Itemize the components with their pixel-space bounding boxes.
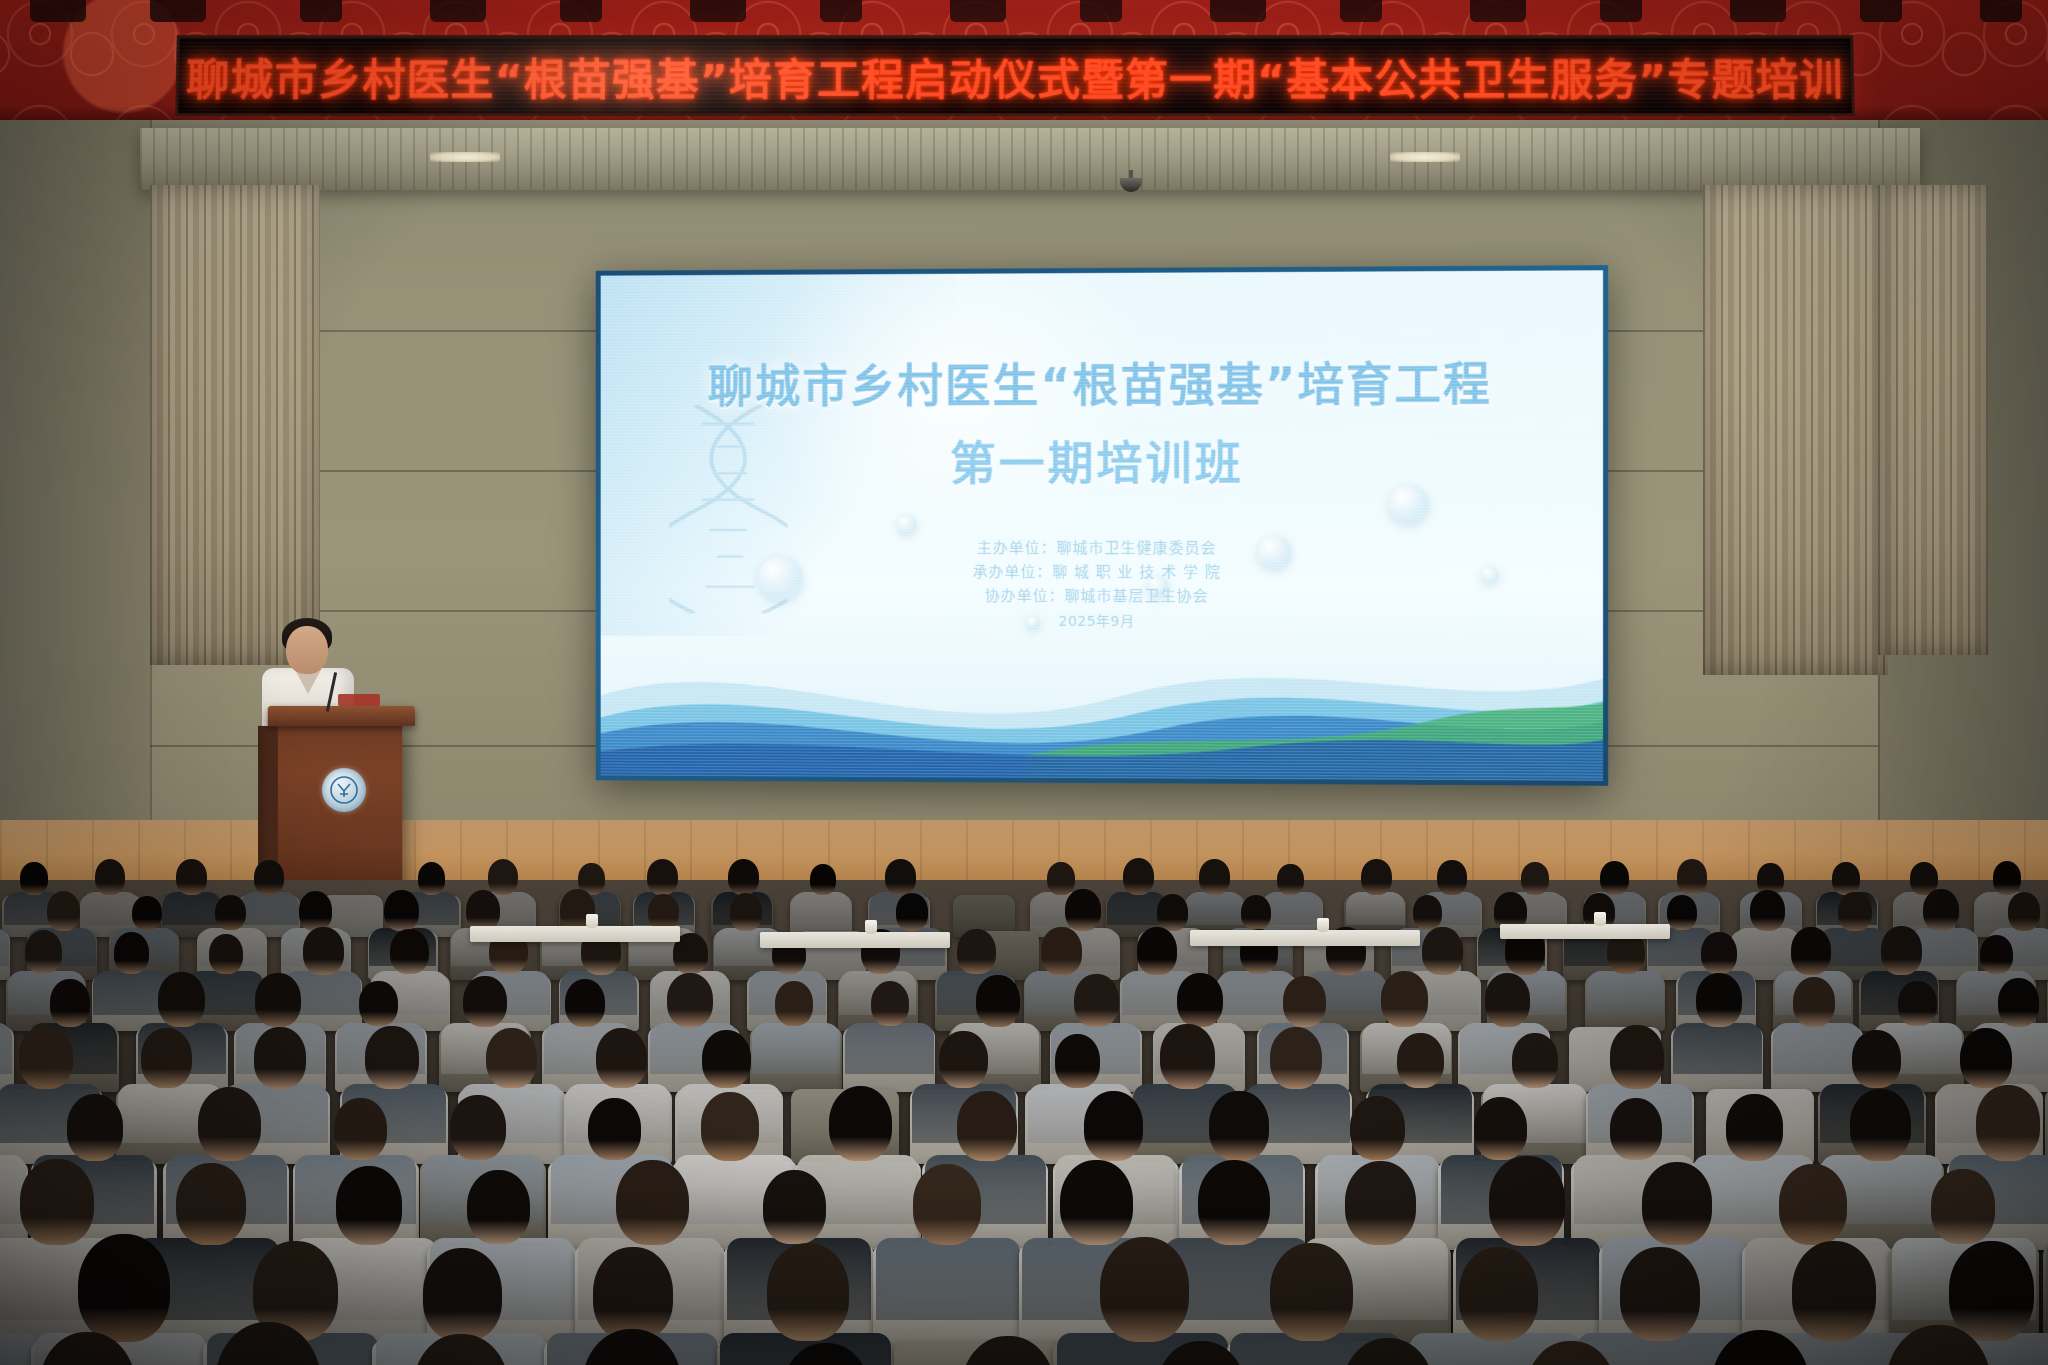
ceiling-block xyxy=(30,0,86,22)
audience-member-head xyxy=(1512,1033,1558,1088)
audience-member-head xyxy=(254,860,284,895)
water-cup xyxy=(1317,918,1329,932)
audience-member-head xyxy=(593,1247,673,1341)
front-table xyxy=(470,926,680,942)
audience-member-head xyxy=(1980,935,2013,974)
projection-screen-frame: 聊城市乡村医生“根苗强基”培育工程 第一期培训班 主办单位：聊城市卫生健康委员会… xyxy=(596,265,1608,786)
audience-member-head xyxy=(1489,1156,1565,1246)
audience-member-body xyxy=(1262,892,1322,924)
audience-member-head xyxy=(1270,1027,1323,1089)
audience-member-head xyxy=(1381,971,1428,1027)
audience-member-head xyxy=(1600,861,1629,895)
audience-member-head xyxy=(596,1028,647,1088)
audience-member-head xyxy=(215,895,245,931)
audience-member-body xyxy=(845,1023,933,1074)
audience-member-head xyxy=(1199,859,1230,895)
ceiling-soffit-blocks xyxy=(0,0,2048,22)
audience-member-head xyxy=(1838,892,1871,931)
audience-member-head xyxy=(1852,1030,1901,1088)
audience-member-head xyxy=(19,1025,73,1088)
audience-member-head xyxy=(303,927,343,974)
audience-member-head xyxy=(1667,895,1697,930)
audience-member-head xyxy=(1074,974,1119,1027)
audience-member-head xyxy=(20,862,48,895)
audience-member-head xyxy=(1198,1160,1270,1245)
audience-member-head xyxy=(1610,1025,1664,1088)
audience-member-head xyxy=(359,981,397,1026)
audience-member-head xyxy=(486,1028,537,1088)
audience-member-head xyxy=(1055,1034,1101,1088)
ceiling-block xyxy=(1470,0,1526,22)
audience-member-head xyxy=(390,929,429,974)
ceiling-block xyxy=(1980,0,2022,22)
audience-member-head xyxy=(1345,1161,1416,1245)
front-table xyxy=(760,932,950,948)
ceiling-light xyxy=(1390,152,1460,162)
ceiling-block xyxy=(1210,0,1266,22)
audience-member-head xyxy=(1160,1024,1215,1089)
audience-member-head xyxy=(50,979,90,1026)
ceiling-block xyxy=(300,0,342,22)
audience-member-head xyxy=(158,972,205,1027)
audience-member-head xyxy=(728,859,759,895)
audience-member-head xyxy=(701,1092,759,1161)
audience-member-head xyxy=(1898,981,1936,1026)
audience-member-body xyxy=(791,892,851,924)
audience-member-head xyxy=(565,979,605,1027)
audience-member-head xyxy=(1047,862,1075,895)
audience-member-head xyxy=(25,930,63,974)
audience-member-head xyxy=(1779,1164,1847,1245)
water-cup xyxy=(586,914,598,928)
audience-member-head xyxy=(78,1234,170,1342)
ceiling-block xyxy=(1600,0,1642,22)
audience-area: 10-0610-02 xyxy=(0,880,2048,1365)
audience-member-head xyxy=(114,932,150,974)
audience-member-head xyxy=(957,929,996,975)
audience-member-head xyxy=(336,1166,402,1244)
water-cup xyxy=(865,920,877,934)
institution-emblem xyxy=(322,768,366,812)
audience-member-head xyxy=(423,1248,501,1340)
ceiling-block xyxy=(1730,0,1786,22)
audience-member-head xyxy=(67,1094,124,1161)
audience-member-head xyxy=(1791,927,1831,975)
audience-member-head xyxy=(1437,860,1466,895)
audience-member-head xyxy=(767,1243,850,1341)
speaker-head xyxy=(286,626,328,674)
audience-member-head xyxy=(1137,927,1177,975)
led-banner-text: 聊城市乡村医生“根苗强基”培育工程启动仪式暨第一期“基本公共卫生服务”专题培训 xyxy=(178,46,1851,108)
audience-member-head xyxy=(1850,1089,1911,1161)
audience-member-head xyxy=(1832,862,1860,895)
screen-glare xyxy=(758,270,1157,566)
stage-curtain-far-right xyxy=(1878,185,1988,655)
audience-member-head xyxy=(176,1163,246,1245)
audience-member-body xyxy=(1185,892,1245,924)
audience-member-head xyxy=(1041,927,1081,975)
audience-member-head xyxy=(209,934,243,974)
audience-member-head xyxy=(20,1159,93,1246)
audience-member-head xyxy=(299,891,332,930)
audience-member-head xyxy=(132,896,162,931)
audience-member-head xyxy=(896,893,928,930)
audience-member-body xyxy=(1346,892,1406,924)
ceiling-block xyxy=(1340,0,1382,22)
audience-member-head xyxy=(1123,858,1154,895)
audience-member-head xyxy=(1677,859,1707,895)
audience-member-head xyxy=(467,1170,530,1244)
audience-member-head xyxy=(1949,1241,2034,1341)
audience-member-head xyxy=(829,1086,893,1161)
ceiling-light xyxy=(430,152,500,162)
conference-hall-photo: 聊城市乡村医生“根苗强基”培育工程启动仪式暨第一期“基本公共卫生服务”专题培训 xyxy=(0,0,2048,1365)
audience-member-head xyxy=(254,1027,306,1088)
ceiling-soffit-beam xyxy=(140,128,1920,190)
audience-member-head xyxy=(1177,973,1223,1028)
audience-member-head xyxy=(1976,1085,2040,1161)
audience-member-head xyxy=(1209,1091,1268,1161)
audience-member-head xyxy=(334,1098,386,1160)
ceiling-block xyxy=(560,0,602,22)
audience-member-head xyxy=(1642,1162,1712,1245)
audience-member-head xyxy=(810,864,836,895)
audience-member-head xyxy=(1620,1247,1700,1341)
ceiling-block xyxy=(150,0,206,22)
audience-member-head xyxy=(1998,978,2039,1027)
audience-member-head xyxy=(1361,859,1392,896)
audience-member-head xyxy=(1084,1091,1143,1161)
audience-member-head xyxy=(1060,1160,1133,1246)
audience-member-head xyxy=(616,1160,689,1246)
audience-member-head xyxy=(176,859,207,895)
audience-member-head xyxy=(1726,1094,1782,1161)
audience-member-head xyxy=(1792,1241,1877,1341)
podium-document xyxy=(338,694,380,706)
emblem-glyph xyxy=(329,775,359,805)
podium-top xyxy=(268,706,415,726)
audience-member-head xyxy=(1923,889,1959,931)
audience-member-head xyxy=(1283,976,1326,1027)
audience-member-head xyxy=(1960,1028,2012,1089)
audience-member-head xyxy=(702,1030,751,1088)
audience-member-body xyxy=(240,892,300,924)
audience-member-head xyxy=(730,893,762,931)
audience-member-head xyxy=(1413,895,1443,930)
audience-member-head xyxy=(775,981,813,1026)
ceiling-block xyxy=(1860,0,1902,22)
ceiling-block xyxy=(820,0,862,22)
front-table xyxy=(1190,930,1420,946)
ceiling-block xyxy=(690,0,746,22)
audience-member-head xyxy=(1397,1033,1444,1088)
audience-member-head xyxy=(913,1164,981,1244)
audience-member-head xyxy=(1241,895,1271,931)
audience-member-head xyxy=(1610,1098,1663,1160)
audience-member-head xyxy=(667,973,713,1027)
projection-screen: 聊城市乡村医生“根苗强基”培育工程 第一期培训班 主办单位：聊城市卫生健康委员会… xyxy=(601,270,1603,780)
stage-curtain-right xyxy=(1703,185,1888,675)
audience-member-head xyxy=(1422,927,1463,975)
wave-graphic xyxy=(601,575,1603,780)
audience-member-body xyxy=(876,1238,1020,1320)
audience-member-head xyxy=(2008,892,2040,930)
soffit-ribs xyxy=(140,128,1920,190)
water-cup xyxy=(1594,912,1606,926)
audience-member-body xyxy=(1587,971,1664,1015)
audience-member-head xyxy=(1100,1237,1189,1342)
audience-member-body xyxy=(162,892,222,924)
audience-member-head xyxy=(466,890,501,931)
audience-member-head xyxy=(488,859,519,895)
led-banner: 聊城市乡村医生“根苗强基”培育工程启动仪式暨第一期“基本公共卫生服务”专题培训 xyxy=(175,35,1855,116)
audience-member-head xyxy=(1277,864,1304,895)
audience-member-head xyxy=(1521,862,1549,895)
ceiling-block xyxy=(1080,0,1122,22)
audience-member-body xyxy=(0,1023,12,1074)
podium xyxy=(278,719,402,905)
audience-member-head xyxy=(95,859,126,896)
audience-member-head xyxy=(763,1170,826,1244)
audience-member-head xyxy=(1350,1096,1405,1161)
wall-left-panel xyxy=(0,120,150,910)
audience-member-head xyxy=(1993,861,2022,895)
audience-member-head xyxy=(255,973,301,1027)
audience-member-head xyxy=(647,859,678,896)
audience-member-body xyxy=(1773,1023,1861,1074)
audience-member-head xyxy=(1881,926,1922,974)
audience-member-head xyxy=(365,1026,418,1089)
audience-member-head xyxy=(1065,889,1101,931)
audience-member-head xyxy=(384,890,419,931)
audience-member-head xyxy=(1931,1169,1995,1244)
slide-title-line-1: 聊城市乡村医生“根苗强基”培育工程 xyxy=(601,347,1603,416)
audience-member-head xyxy=(1750,890,1785,931)
audience-member-head xyxy=(1270,1243,1353,1341)
audience-member-head xyxy=(418,862,446,895)
audience-member-body xyxy=(1673,1023,1761,1074)
ceiling-block xyxy=(950,0,1006,22)
organizer-line-host: 主办单位：聊城市卫生健康委员会 xyxy=(601,535,1603,560)
audience-member-body xyxy=(1733,928,1800,966)
audience-member-head xyxy=(47,891,80,930)
audience-member-head xyxy=(1459,1247,1538,1340)
slide-title-line-2: 第一期培训班 xyxy=(601,426,1603,493)
front-table xyxy=(1500,924,1670,939)
audience-member-head xyxy=(141,1028,192,1088)
audience-member-head xyxy=(1157,894,1188,931)
audience-member-body xyxy=(752,1023,840,1074)
audience-member-head xyxy=(957,1091,1017,1161)
audience-member-head xyxy=(885,859,915,895)
audience-member-head xyxy=(1701,932,1737,975)
audience-member-head xyxy=(976,975,1020,1027)
audience-member-head xyxy=(1474,1097,1527,1160)
audience-member-head xyxy=(463,976,507,1027)
audience-member-head xyxy=(588,1098,641,1160)
audience-member-head xyxy=(1485,973,1531,1027)
audience-member-head xyxy=(198,1087,261,1162)
audience-member-head xyxy=(1696,973,1742,1027)
audience-member-head xyxy=(1793,977,1836,1027)
ceiling-block xyxy=(430,0,486,22)
stage-curtain-left xyxy=(150,185,320,665)
audience-member-head xyxy=(450,1095,506,1161)
audience-member-head xyxy=(939,1031,988,1088)
audience-member-head xyxy=(871,981,910,1027)
